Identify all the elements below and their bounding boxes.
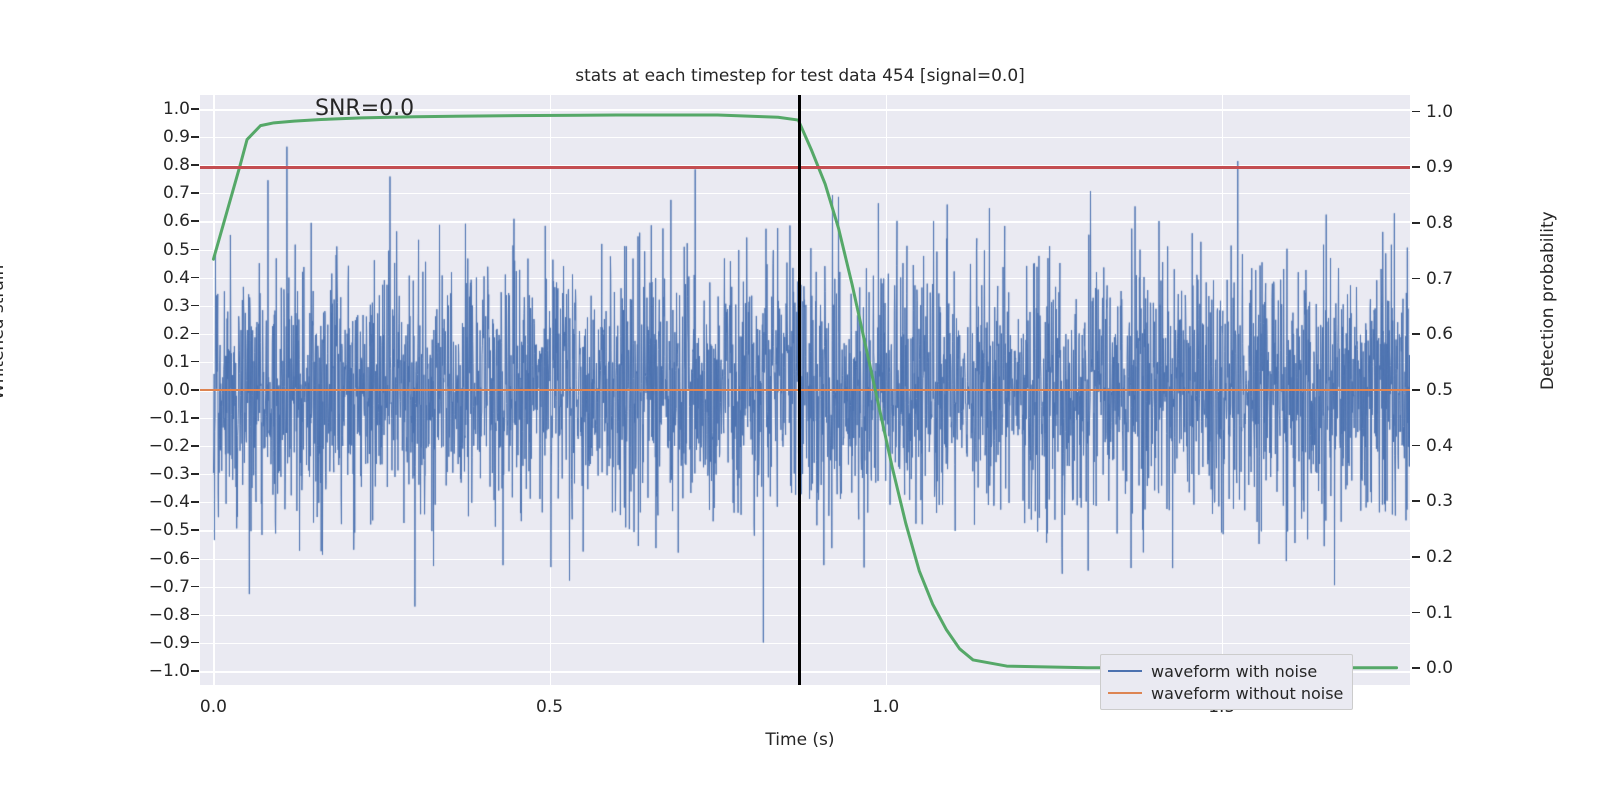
y-axis-left-tick-label: 0.4 <box>120 268 190 288</box>
y-axis-right-tick-label: 0.6 <box>1426 324 1496 344</box>
y-axis-left-tick-label: 0.0 <box>120 380 190 400</box>
y-axis-right-tick-label: 0.3 <box>1426 491 1496 511</box>
y-axis-left-label: Whitened strain <box>0 265 8 400</box>
y-axis-left-tick-mark <box>191 249 199 251</box>
y-axis-right-label: Detection probability <box>1538 211 1558 390</box>
y-axis-left-tick-label: −0.3 <box>120 464 190 484</box>
y-axis-left-tick-label: −0.1 <box>120 408 190 428</box>
y-axis-left-tick-label: 0.3 <box>120 296 190 316</box>
y-axis-right-tick-label: 1.0 <box>1426 102 1496 122</box>
y-axis-left-tick-label: 0.8 <box>120 155 190 175</box>
y-axis-right-tick-label: 0.7 <box>1426 269 1496 289</box>
y-axis-right-tick-mark <box>1412 166 1420 168</box>
y-axis-right-tick-label: 0.4 <box>1426 436 1496 456</box>
y-axis-left-tick-label: 1.0 <box>120 99 190 119</box>
y-axis-left-tick-mark <box>191 136 199 138</box>
x-axis-label: Time (s) <box>0 730 1600 750</box>
y-axis-right-tick-mark <box>1412 556 1420 558</box>
y-axis-left-tick-mark <box>191 586 199 588</box>
y-axis-left-tick-mark <box>191 220 199 222</box>
detection-probability-series <box>200 95 1410 685</box>
y-axis-right-tick-mark <box>1412 445 1420 447</box>
y-axis-left-tick-label: −0.7 <box>120 577 190 597</box>
detection-threshold-line <box>200 166 1410 168</box>
y-axis-left-tick-label: −0.6 <box>120 549 190 569</box>
y-axis-left-tick-label: −0.5 <box>120 520 190 540</box>
y-axis-left-tick-label: 0.7 <box>120 183 190 203</box>
y-axis-right-tick-mark <box>1412 222 1420 224</box>
y-axis-left-tick-mark <box>191 305 199 307</box>
y-axis-right-tick-mark <box>1412 612 1420 614</box>
legend-label: waveform with noise <box>1151 662 1317 681</box>
y-axis-left-tick-mark <box>191 529 199 531</box>
x-axis-tick-label: 0.0 <box>200 697 227 717</box>
y-axis-left-tick-mark <box>191 361 199 363</box>
y-axis-right-tick-label: 0.5 <box>1426 380 1496 400</box>
y-axis-right-tick-label: 0.8 <box>1426 213 1496 233</box>
y-axis-left-tick-mark <box>191 164 199 166</box>
y-axis-left-tick-label: −0.8 <box>120 605 190 625</box>
y-axis-right-tick-mark <box>1412 278 1420 280</box>
y-axis-left-tick-label: 0.6 <box>120 211 190 231</box>
legend-item: waveform with noise <box>1108 660 1343 682</box>
y-axis-left-tick-mark <box>191 670 199 672</box>
legend-label: waveform without noise <box>1151 684 1343 703</box>
y-axis-left-tick-mark <box>191 389 199 391</box>
y-axis-right-tick-label: 0.2 <box>1426 547 1496 567</box>
legend-swatch-waveform-with-noise <box>1108 670 1142 673</box>
legend-item: waveform without noise <box>1108 682 1343 704</box>
y-axis-left-tick-mark <box>191 277 199 279</box>
y-axis-left-tick-label: 0.2 <box>120 324 190 344</box>
y-axis-left-tick-mark <box>191 501 199 503</box>
chart-title: stats at each timestep for test data 454… <box>0 66 1600 86</box>
y-axis-left-tick-label: 0.9 <box>120 127 190 147</box>
y-axis-right-tick-mark <box>1412 389 1420 391</box>
x-axis-tick-label: 0.5 <box>536 697 563 717</box>
y-axis-left-tick-mark <box>191 473 199 475</box>
legend: waveform with noise waveform without noi… <box>1100 654 1353 710</box>
y-axis-left-tick-mark <box>191 614 199 616</box>
y-axis-left-tick-mark <box>191 333 199 335</box>
event-time-marker <box>798 95 801 685</box>
y-axis-right-tick-mark <box>1412 111 1420 113</box>
y-axis-left-tick-mark <box>191 417 199 419</box>
y-axis-left-tick-label: −0.4 <box>120 492 190 512</box>
y-axis-right-tick-label: 0.0 <box>1426 658 1496 678</box>
y-axis-right-tick-mark <box>1412 667 1420 669</box>
y-axis-left-tick-mark <box>191 642 199 644</box>
y-axis-left-tick-mark <box>191 445 199 447</box>
y-axis-left-tick-mark <box>191 192 199 194</box>
y-axis-right-tick-label: 0.1 <box>1426 603 1496 623</box>
y-axis-left-tick-label: 0.1 <box>120 352 190 372</box>
snr-annotation: SNR=0.0 <box>315 96 414 121</box>
legend-swatch-waveform-without-noise <box>1108 692 1142 695</box>
y-axis-right-tick-mark <box>1412 500 1420 502</box>
y-axis-left-tick-label: −1.0 <box>120 661 190 681</box>
y-axis-left-tick-label: −0.9 <box>120 633 190 653</box>
y-axis-left-tick-mark <box>191 108 199 110</box>
y-axis-right-tick-mark <box>1412 333 1420 335</box>
y-axis-left-tick-label: 0.5 <box>120 240 190 260</box>
y-axis-right-tick-label: 0.9 <box>1426 157 1496 177</box>
figure: stats at each timestep for test data 454… <box>0 0 1600 800</box>
x-axis-tick-label: 1.0 <box>872 697 899 717</box>
plot-area <box>200 95 1410 685</box>
y-axis-left-tick-mark <box>191 558 199 560</box>
y-axis-left-tick-label: −0.2 <box>120 436 190 456</box>
